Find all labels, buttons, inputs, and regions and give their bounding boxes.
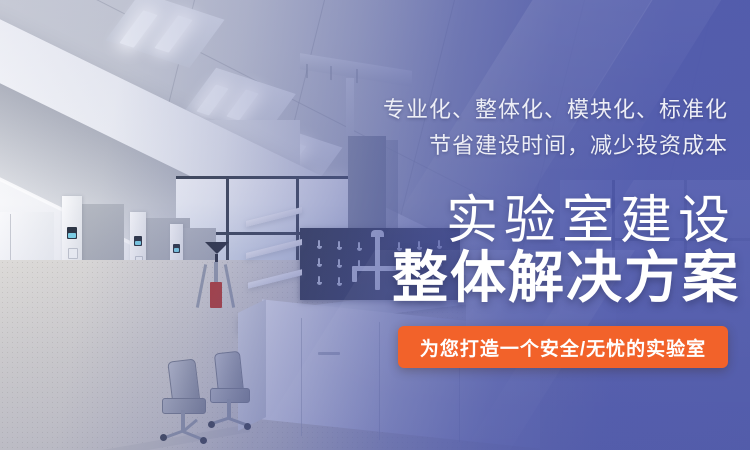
- subheadline-line-1: 专业化、整体化、模块化、标准化: [383, 92, 728, 124]
- banner-root: 专业化、整体化、模块化、标准化 节省建设时间，减少投资成本 实验室建设 整体解决…: [0, 0, 750, 450]
- cta-button[interactable]: 为您打造一个安全/无忧的实验室: [398, 326, 728, 368]
- cta-button-label: 为您打造一个安全/无忧的实验室: [420, 334, 706, 361]
- headline-line-2: 整体解决方案: [392, 233, 740, 314]
- subheadline-line-2: 节省建设时间，减少投资成本: [429, 128, 728, 160]
